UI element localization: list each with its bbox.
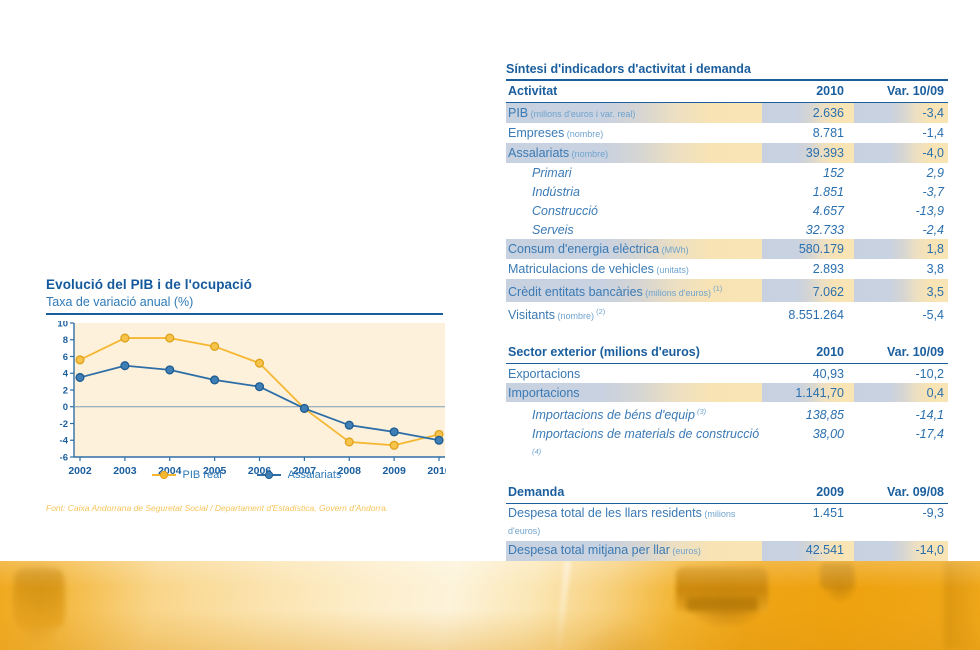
- row-label: Visitants (nombre) (2): [506, 302, 762, 325]
- row-variation: -14,1: [854, 402, 948, 424]
- row-unit: (nombre): [555, 311, 594, 321]
- legend-label-pib: PIB real: [183, 469, 222, 481]
- row-variation: 3,8: [854, 259, 948, 279]
- data-point: [166, 366, 174, 374]
- row-label: PIB (milions d'euros i var. real): [506, 103, 762, 124]
- row-variation: -5,4: [854, 302, 948, 325]
- data-point: [345, 438, 353, 446]
- row-footnote-ref: (3): [695, 407, 706, 416]
- row-value: 580.179: [762, 239, 854, 259]
- row-variation: 0,4: [854, 383, 948, 402]
- row-value: 138,85: [762, 402, 854, 424]
- row-label: Indústria: [506, 182, 762, 201]
- table-row: Importacions1.141,700,4: [506, 383, 948, 402]
- data-point: [390, 428, 398, 436]
- header-activitat: Activitat: [506, 81, 762, 103]
- table-header-row: Demanda 2009 Var. 09/08: [506, 482, 948, 504]
- row-label: Despesa total mitjana per llar (euros): [506, 541, 762, 561]
- table-row: Empreses (nombre)8.781-1,4: [506, 123, 948, 143]
- header-demanda-year: 2009: [762, 482, 854, 504]
- table-sector-exterior-body: Exportacions40,93-10,2Importacions1.141,…: [506, 364, 948, 465]
- table-row: Matriculacions de vehicles (unitats)2.89…: [506, 259, 948, 279]
- legend-marker-pib-icon: [151, 470, 177, 480]
- data-point: [345, 421, 353, 429]
- row-footnote-ref: (2): [594, 307, 605, 316]
- data-point: [300, 405, 308, 413]
- y-tick-label: 10: [57, 321, 68, 329]
- table-row: Visitants (nombre) (2)8.551.264-5,4: [506, 302, 948, 325]
- row-value: 2.893: [762, 259, 854, 279]
- row-variation: -9,3: [854, 503, 948, 541]
- row-label: Matriculacions de vehicles (unitats): [506, 259, 762, 279]
- header-sector-year: 2010: [762, 342, 854, 364]
- row-value: 42.541: [762, 541, 854, 561]
- row-unit: (nombre): [564, 129, 603, 139]
- chart-source-note: Font: Caixa Andorrana de Seguretat Socia…: [46, 503, 466, 514]
- spacer-2: [506, 465, 948, 482]
- row-variation: -14,0: [854, 541, 948, 561]
- table-row: Primari1522,9: [506, 163, 948, 182]
- row-label: Primari: [506, 163, 762, 182]
- row-label: Despesa total de les llars residents (mi…: [506, 503, 762, 541]
- row-value: 1.851: [762, 182, 854, 201]
- row-variation: -2,4: [854, 220, 948, 239]
- row-value: 8.551.264: [762, 302, 854, 325]
- table-activitat-body: PIB (milions d'euros i var. real)2.636-3…: [506, 103, 948, 326]
- data-point: [76, 356, 84, 364]
- y-tick-label: -2: [60, 419, 68, 430]
- data-point: [390, 441, 398, 449]
- row-footnote-ref: (1): [711, 284, 722, 293]
- chart-subtitle: Taxa de variació anual (%): [46, 295, 446, 310]
- row-unit: (nombre): [569, 149, 608, 159]
- table-row: Despesa total mitjana per llar (euros)42…: [506, 541, 948, 561]
- table-row: PIB (milions d'euros i var. real)2.636-3…: [506, 103, 948, 124]
- row-label: Empreses (nombre): [506, 123, 762, 143]
- y-tick-label: 0: [63, 402, 68, 413]
- row-footnote-ref: (4): [532, 447, 541, 456]
- header-activitat-var: Var. 10/09: [854, 81, 948, 103]
- row-label: Serveis: [506, 220, 762, 239]
- tables-heading: Síntesi d'indicadors d'activitat i deman…: [506, 62, 948, 81]
- y-tick-label: 8: [63, 335, 68, 346]
- row-variation: -10,2: [854, 364, 948, 384]
- data-point: [121, 362, 129, 370]
- row-variation: -3,4: [854, 103, 948, 124]
- table-activitat: Activitat 2010 Var. 10/09 PIB (milions d…: [506, 81, 948, 325]
- table-row: Construcció4.657-13,9: [506, 201, 948, 220]
- row-value: 40,93: [762, 364, 854, 384]
- row-value: 32.733: [762, 220, 854, 239]
- header-demanda: Demanda: [506, 482, 762, 504]
- data-point: [256, 359, 264, 367]
- spacer-1: [506, 325, 948, 342]
- row-variation: 1,8: [854, 239, 948, 259]
- row-variation: -17,4: [854, 424, 948, 464]
- row-value: 1.451: [762, 503, 854, 541]
- row-value: 7.062: [762, 279, 854, 302]
- data-point: [76, 374, 84, 382]
- y-tick-label: 2: [63, 385, 68, 396]
- row-value: 152: [762, 163, 854, 182]
- row-value: 38,00: [762, 424, 854, 464]
- table-row: Consum d'energia elèctrica (MWh)580.1791…: [506, 239, 948, 259]
- header-activitat-year: 2010: [762, 81, 854, 103]
- row-variation: 2,9: [854, 163, 948, 182]
- row-unit: (euros): [670, 546, 701, 556]
- data-point: [121, 334, 129, 342]
- tables-block: Síntesi d'indicadors d'activitat i deman…: [506, 62, 948, 645]
- data-point: [256, 383, 264, 391]
- header-sector-exterior-unit: (milions d'euros): [600, 345, 700, 359]
- row-unit: (milions d'euros): [508, 509, 735, 536]
- data-point: [211, 343, 219, 351]
- table-demanda-body: Despesa total de les llars residents (mi…: [506, 503, 948, 561]
- table-row: Importacions de béns d'equip (3)138,85-1…: [506, 402, 948, 424]
- table-row: Importacions de materials de construcció…: [506, 424, 948, 464]
- row-label: Importacions de béns d'equip (3): [506, 402, 762, 424]
- row-label: Consum d'energia elèctrica (MWh): [506, 239, 762, 259]
- y-tick-label: -6: [60, 452, 68, 463]
- row-unit: (milions d'euros): [643, 288, 711, 298]
- table-row: Despesa total de les llars residents (mi…: [506, 503, 948, 541]
- row-value: 2.636: [762, 103, 854, 124]
- header-demanda-var: Var. 09/08: [854, 482, 948, 504]
- chart-legend: PIB real Assalariats: [46, 469, 446, 481]
- row-variation: -13,9: [854, 201, 948, 220]
- data-point: [435, 436, 443, 444]
- page-root: Evolució del PIB i de l'ocupació Taxa de…: [0, 0, 980, 650]
- row-variation: -3,7: [854, 182, 948, 201]
- footer-photo-strip: [0, 561, 980, 650]
- table-row: Indústria1.851-3,7: [506, 182, 948, 201]
- chart-title: Evolució del PIB i de l'ocupació: [46, 277, 446, 293]
- chart-title-rule: [46, 313, 443, 315]
- row-variation: -4,0: [854, 143, 948, 163]
- header-sector-exterior: Sector exterior (milions d'euros): [506, 342, 762, 364]
- chart-block: Evolució del PIB i de l'ocupació Taxa de…: [46, 277, 446, 506]
- row-variation: -1,4: [854, 123, 948, 143]
- y-tick-label: -4: [60, 436, 69, 447]
- header-sector-var: Var. 10/09: [854, 342, 948, 364]
- row-label: Importacions de materials de construcció…: [506, 424, 762, 464]
- row-unit: (milions d'euros i var. real): [528, 109, 635, 119]
- row-label: Exportacions: [506, 364, 762, 384]
- row-label: Crèdit entitats bancàries (milions d'eur…: [506, 279, 762, 302]
- row-label: Importacions: [506, 383, 762, 402]
- photo-overlay: [0, 561, 980, 650]
- data-point: [211, 376, 219, 384]
- y-tick-label: 6: [63, 352, 68, 363]
- table-sector-exterior: Sector exterior (milions d'euros) 2010 V…: [506, 342, 948, 464]
- row-label: Construcció: [506, 201, 762, 220]
- legend-marker-assalariats-icon: [256, 470, 282, 480]
- legend-item-pib: PIB real: [151, 469, 222, 481]
- row-value: 4.657: [762, 201, 854, 220]
- y-tick-label: 4: [63, 369, 69, 380]
- table-header-row: Sector exterior (milions d'euros) 2010 V…: [506, 342, 948, 364]
- table-header-row: Activitat 2010 Var. 10/09: [506, 81, 948, 103]
- legend-label-assalariats: Assalariats: [288, 469, 342, 481]
- row-variation: 3,5: [854, 279, 948, 302]
- row-value: 8.781: [762, 123, 854, 143]
- table-row: Crèdit entitats bancàries (milions d'eur…: [506, 279, 948, 302]
- row-value: 39.393: [762, 143, 854, 163]
- row-unit: (MWh): [659, 245, 689, 255]
- table-row: Serveis32.733-2,4: [506, 220, 948, 239]
- row-value: 1.141,70: [762, 383, 854, 402]
- row-unit: (unitats): [654, 265, 689, 275]
- legend-item-assalariats: Assalariats: [256, 469, 342, 481]
- table-demanda: Demanda 2009 Var. 09/08 Despesa total de…: [506, 482, 948, 561]
- data-point: [166, 334, 174, 342]
- table-row: Assalariats (nombre)39.393-4,0: [506, 143, 948, 163]
- row-label: Assalariats (nombre): [506, 143, 762, 163]
- table-row: Exportacions40,93-10,2: [506, 364, 948, 384]
